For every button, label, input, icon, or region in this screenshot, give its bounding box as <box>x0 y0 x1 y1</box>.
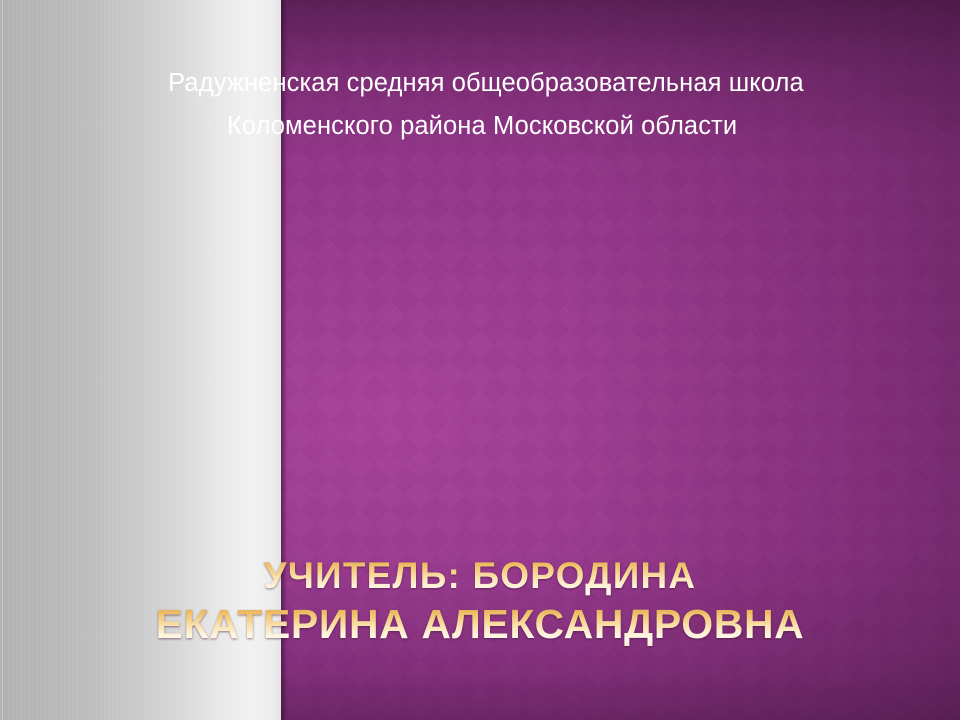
title-line-2: ЕКАТЕРИНА АЛЕКСАНДРОВНА <box>0 600 960 648</box>
slide-title: УЧИТЕЛЬ: БОРОДИНА ЕКАТЕРИНА АЛЕКСАНДРОВН… <box>0 552 960 648</box>
slide-heading: Радужненская средняя общеобразовательная… <box>0 62 960 148</box>
heading-line-1: Радужненская средняя общеобразовательная… <box>0 62 960 105</box>
heading-line-2: Коломенского района Московской области <box>0 105 960 148</box>
presentation-slide: Радужненская средняя общеобразовательная… <box>0 0 960 720</box>
title-line-1: УЧИТЕЛЬ: БОРОДИНА <box>0 552 960 600</box>
